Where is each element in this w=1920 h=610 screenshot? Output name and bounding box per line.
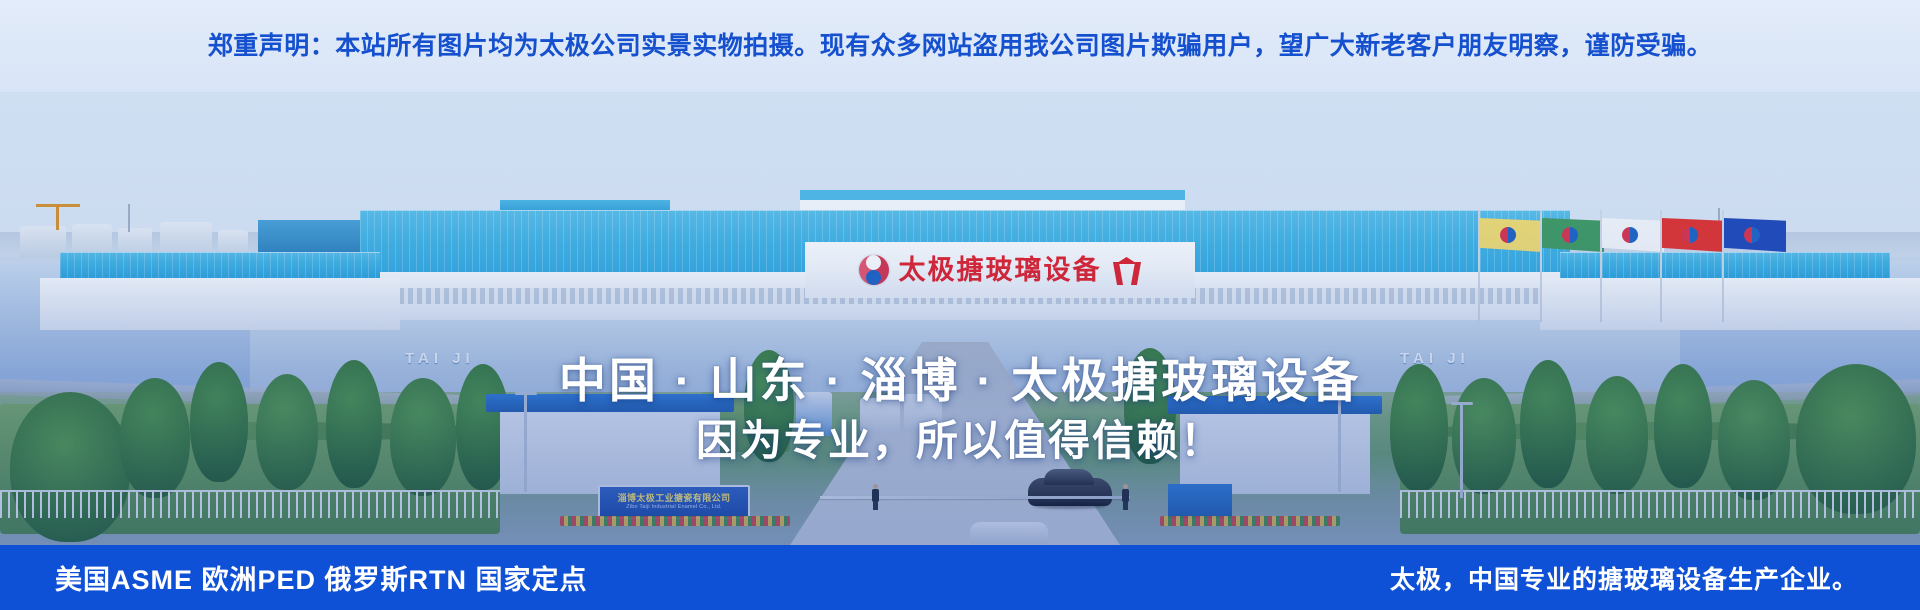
building-label-left: TAI JI [405, 350, 475, 367]
building-wing-left [60, 252, 380, 278]
tree [10, 392, 130, 542]
tree [1586, 376, 1648, 494]
building-wing-right-facade [1540, 278, 1920, 330]
tree [1654, 364, 1712, 488]
flower-bed [1160, 516, 1340, 526]
tree [390, 378, 456, 496]
security-guard-left [872, 484, 879, 510]
street-lamp [1338, 392, 1341, 492]
black-sedan [1028, 478, 1112, 506]
flag-pole [1540, 210, 1542, 322]
tree [190, 362, 248, 482]
flag-pole [1478, 210, 1480, 322]
planter-box [1168, 484, 1232, 518]
slogan-text: 太极，中国专业的搪玻璃设备生产企业。 [1390, 545, 1858, 610]
tree [326, 360, 382, 488]
utility-pole [128, 204, 130, 232]
crane [56, 204, 59, 230]
street-lamp [1460, 402, 1463, 498]
fence [1400, 490, 1920, 518]
company-plaque-en: Zibo Taiji Industrial Enamel Co., Ltd. [626, 504, 722, 511]
parked-car [970, 522, 1048, 544]
red-arch-icon [1112, 255, 1142, 285]
flag-pole [1722, 210, 1724, 322]
tree [1520, 360, 1576, 488]
street-lamp [524, 392, 527, 492]
notice-text: 郑重声明：本站所有图片均为太极公司实景实物拍摄。现有众多网站盗用我公司图片欺骗用… [208, 34, 1713, 59]
banner-stage: 郑重声明：本站所有图片均为太极公司实景实物拍摄。现有众多网站盗用我公司图片欺骗用… [0, 0, 1920, 610]
flag-pole [1600, 210, 1602, 322]
flag-red [1662, 218, 1724, 252]
gate-house-roof [1168, 396, 1382, 414]
tree [120, 378, 190, 498]
factory-photo: 太极搪玻璃设备 TAI JI TAI JI [0, 92, 1920, 545]
gate-house-right [1180, 410, 1370, 494]
tree [256, 374, 318, 490]
parked-van [904, 394, 942, 430]
fence [0, 490, 500, 518]
building-signboard: 太极搪玻璃设备 [805, 242, 1195, 298]
flower-bed [560, 516, 790, 526]
tree [744, 350, 794, 462]
flag-white [1602, 218, 1664, 252]
building-wing-left-facade [40, 278, 400, 330]
gate-house-left [500, 408, 720, 494]
notice-strip: 郑重声明：本站所有图片均为太极公司实景实物拍摄。现有众多网站盗用我公司图片欺骗用… [0, 0, 1920, 92]
flag-yellow [1480, 218, 1542, 252]
tree [1718, 380, 1790, 500]
parked-van [860, 398, 900, 432]
certification-text: 美国ASME 欧洲PED 俄罗斯RTN 国家定点 [55, 545, 588, 610]
flag-blue [1724, 218, 1786, 252]
flag-green [1542, 218, 1604, 252]
company-plaque-cn: 淄博太极工业搪瓷有限公司 [618, 494, 731, 504]
yin-yang-icon [859, 255, 889, 285]
bottom-certification-bar: 美国ASME 欧洲PED 俄罗斯RTN 国家定点 太极，中国专业的搪玻璃设备生产… [0, 545, 1920, 610]
tree [1390, 364, 1448, 492]
building-label-right: TAI JI [1400, 350, 1470, 367]
gate-barrier [820, 496, 1130, 499]
building-sign-text: 太极搪玻璃设备 [899, 257, 1102, 284]
building-wing-right [1560, 252, 1890, 278]
parked-bus [796, 392, 832, 436]
security-guard-right [1122, 484, 1129, 510]
flag-pole [1660, 210, 1662, 322]
company-plaque: 淄博太极工业搪瓷有限公司 Zibo Taiji Industrial Ename… [598, 485, 750, 519]
